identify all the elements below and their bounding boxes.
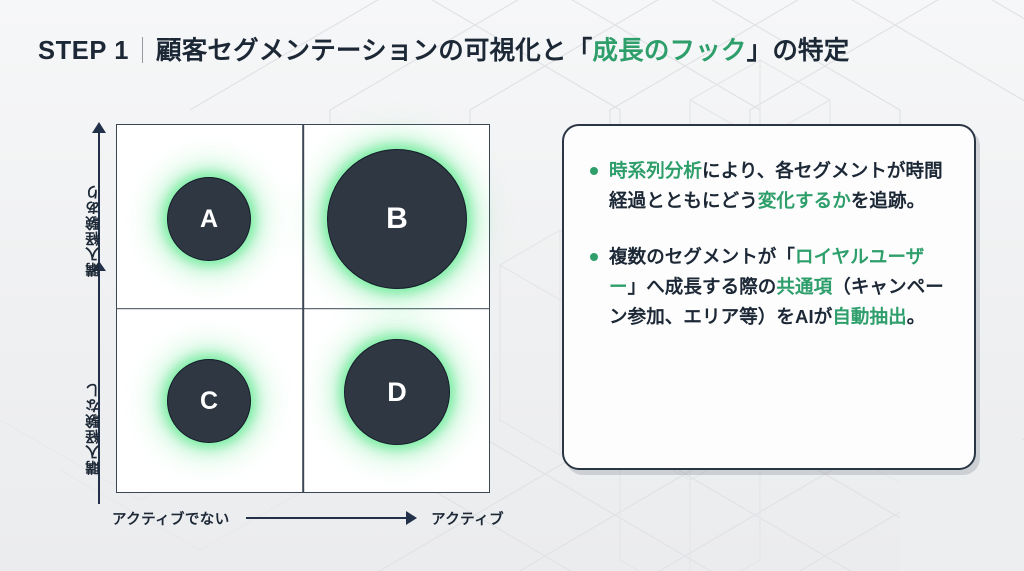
page-title: STEP 1顧客セグメンテーションの可視化と「成長のフック」の特定	[38, 36, 849, 67]
x-axis-arrow-line	[246, 517, 415, 519]
y-axis-bottom-label: 購入経験なし	[83, 382, 104, 475]
segment-bubble-b-label: B	[386, 204, 408, 234]
list-item: 複数のセグメントが「ロイヤルユーザー」へ成長する際の共通項（キャンペーン参加、エ…	[590, 242, 948, 332]
list-item: 時系列分析により、各セグメントが時間経過とともにどう変化するかを追跡。	[590, 156, 948, 216]
text-run-3: 変化するか	[758, 190, 851, 211]
title-part-1: 顧客セグメンテーションの可視化と「	[156, 37, 592, 65]
text-run-6: 自動抽出	[832, 306, 906, 327]
matrix-horizontal-divider	[117, 308, 489, 310]
y-axis: 購入経験あり 購入経験なし	[92, 124, 106, 504]
text-run-1: 複数のセグメントが「	[609, 246, 795, 267]
insight-card: 時系列分析により、各セグメントが時間経過とともにどう変化するかを追跡。 複数のセ…	[562, 124, 976, 470]
segment-bubble-c[interactable]: C	[167, 359, 251, 443]
segment-bubble-b[interactable]: B	[327, 149, 467, 289]
text-run-1: 時系列分析	[609, 160, 702, 181]
title-divider	[142, 37, 143, 63]
segment-bubble-d-label: D	[387, 379, 407, 406]
y-axis-arrow-icon	[92, 122, 106, 133]
text-run-4: 共通項	[776, 276, 832, 297]
bullet-text-2: 複数のセグメントが「ロイヤルユーザー」へ成長する際の共通項（キャンペーン参加、エ…	[609, 242, 948, 332]
text-run-4: を追跡。	[851, 190, 925, 211]
x-axis: アクティブでない アクティブ	[112, 506, 504, 530]
x-axis-left-label: アクティブでない	[112, 508, 230, 529]
segment-bubble-a[interactable]: A	[167, 177, 251, 261]
slide-canvas: STEP 1顧客セグメンテーションの可視化と「成長のフック」の特定 購入経験あり…	[0, 0, 1024, 571]
title-part-accent: 成長のフック	[592, 37, 746, 65]
segmentation-matrix: A B C D	[116, 124, 490, 493]
title-text: 顧客セグメンテーションの可視化と「成長のフック」の特定	[156, 37, 849, 65]
bullet-dot-icon	[590, 253, 598, 261]
y-axis-top-label: 購入経験あり	[83, 184, 104, 277]
segment-bubble-d[interactable]: D	[344, 339, 450, 445]
segment-bubble-c-label: C	[200, 389, 218, 414]
title-part-3: 」の特定	[747, 37, 850, 65]
y-axis-inner-arrow-icon	[98, 269, 100, 377]
step-label: STEP 1	[38, 37, 129, 65]
segment-bubble-a-label: A	[200, 207, 218, 232]
text-run-7: 。	[907, 306, 926, 327]
text-run-3: 」へ成長する際の	[628, 276, 777, 297]
x-axis-right-label: アクティブ	[431, 508, 504, 529]
bullet-text-1: 時系列分析により、各セグメントが時間経過とともにどう変化するかを追跡。	[609, 156, 948, 216]
bullet-dot-icon	[590, 167, 598, 175]
